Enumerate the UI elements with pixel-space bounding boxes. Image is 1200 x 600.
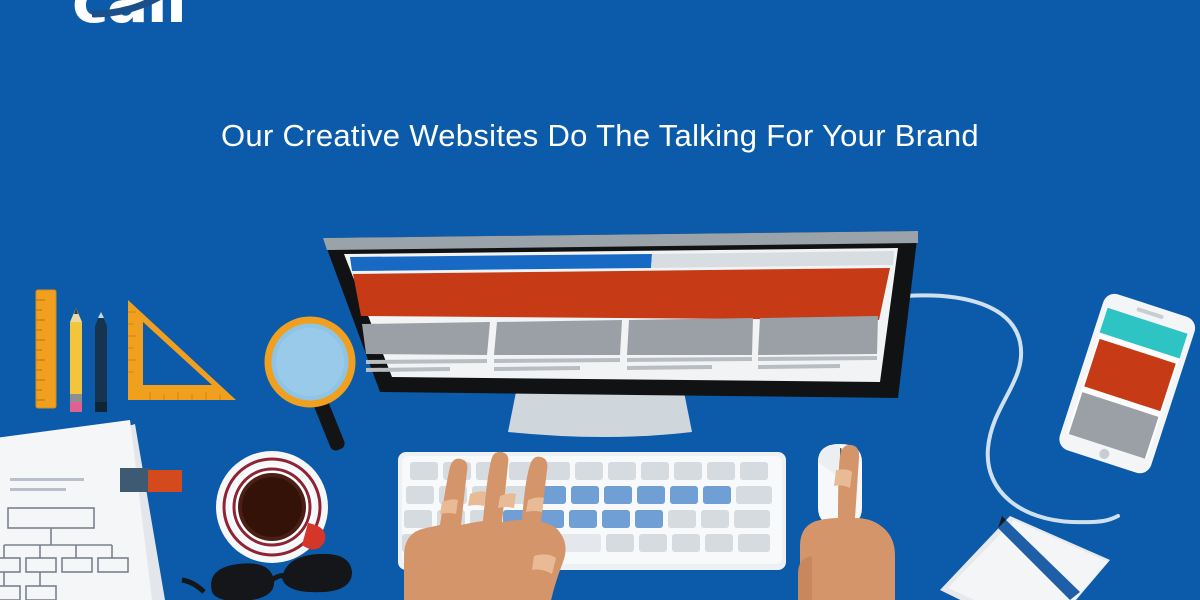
ruler-icon [36, 290, 56, 408]
page-title: Our Creative Websites Do The Talking For… [0, 118, 1200, 154]
promo-banner: cali Our Creative Websites Do The Talkin… [0, 0, 1200, 600]
sticky-notes-icon [120, 468, 182, 492]
coffee-cup-icon [216, 451, 328, 563]
screen-hero-banner [353, 268, 890, 320]
monitor-base [508, 392, 692, 437]
brand-logo[interactable]: cali [72, 0, 185, 32]
pencil-icon [70, 308, 82, 412]
pen-icon [95, 312, 107, 412]
brand-logo-text: cali [72, 0, 185, 37]
desk-illustration [0, 0, 1200, 600]
